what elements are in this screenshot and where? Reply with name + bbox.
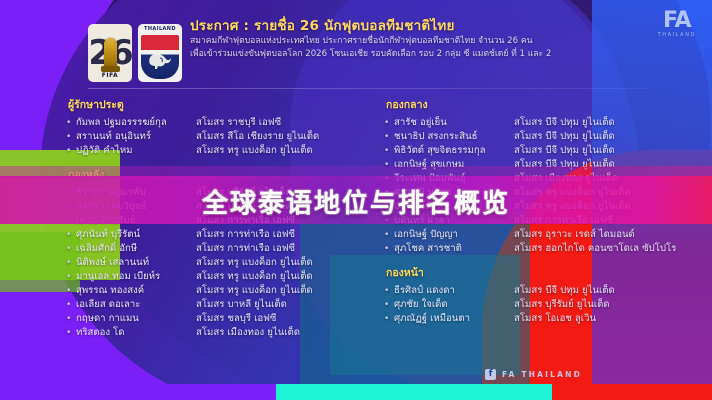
player-club: สโมสร เมืองทอง ยูไนเต็ด: [196, 326, 366, 340]
player-name: ศุภณัฏฐ์ เหมือนตา: [394, 312, 514, 326]
strip-segment-red: [552, 384, 712, 400]
player-name: เอกนิษฐ์ ปัญญา: [394, 228, 514, 242]
strip-segment-purple: [0, 384, 276, 400]
fa-logo-subtext: THAILAND: [658, 32, 696, 38]
page-title: ประกาศ : รายชื่อ 26 นักฟุตบอลทีมชาติไทย: [190, 18, 690, 35]
player-name: สรานนท์ อนุอินทร์: [76, 130, 196, 144]
elephant-icon: [147, 50, 173, 70]
player-club: สโมสร ชลบุรี เอฟซี: [196, 312, 366, 326]
bullet-icon: •: [66, 270, 76, 284]
player-row: •กฤษดา กาแมนสโมสร ชลบุรี เอฟซี: [66, 312, 366, 326]
bullet-icon: •: [384, 144, 394, 158]
bullet-icon: •: [384, 284, 394, 298]
player-row: •ทริสตอง โดสโมสร เมืองทอง ยูไนเต็ด: [66, 326, 366, 340]
player-club: สโมสร ทรู แบงค็อก ยูไนเต็ด: [196, 284, 366, 298]
player-row: •สุพรรณ ทองสงค์สโมสร ทรู แบงค็อก ยูไนเต็…: [66, 284, 366, 298]
fa-thailand-logo: FA THAILAND: [658, 10, 696, 38]
roster-columns: ผู้รักษาประตู•กัมพล ปฐมอรรรฆย์กุลสโมสร ร…: [0, 96, 712, 368]
player-name: เอเลียส ดอเลาะ: [76, 298, 196, 312]
player-row: •ศุภชัย ใจเด็ดสโมสร บุรีรัมย์ ยูไนเต็ด: [384, 298, 684, 312]
bullet-icon: •: [66, 116, 76, 130]
player-row: •ศุภนันท์ บุรีรัตน์สโมสร การท่าเรือ เอฟซ…: [66, 228, 366, 242]
player-name: ทริสตอง โด: [76, 326, 196, 340]
player-club: สโมสร โอเอช ลูเวิน: [514, 312, 684, 326]
bullet-icon: •: [384, 116, 394, 130]
player-row: •มานูเอล ทอม เบียห์รสโมสร ทรู แบงค็อก ยู…: [66, 270, 366, 284]
player-row: •ปฏิวัติ คำไหมสโมสร ทรู แบงค็อก ยูไนเต็ด: [66, 144, 366, 158]
section-gap: [66, 158, 366, 166]
player-row: •เฉลิมศักดิ์ อักษีสโมสร การท่าเรือ เอฟซี: [66, 242, 366, 256]
fa-logo-mark: FA: [658, 10, 696, 32]
fifa-world-cup-2026-badge: 26 FIFA: [88, 24, 132, 82]
player-row: •สุภโชค สารชาติสโมสร ฮอกไกโด คอนซาโดเล ซ…: [384, 242, 684, 256]
player-club: สโมสร บุรีรัมย์ ยูไนเต็ด: [514, 298, 684, 312]
player-row: •ชนาธิป สรงกระสินธ์สโมสร บีจี ปทุม ยูไนเ…: [384, 130, 684, 144]
footer: f FA THAILAND: [0, 358, 712, 384]
player-club: สโมสร อุราวะ เรดส์ ไดมอนด์: [514, 228, 684, 242]
section-gap: [384, 256, 684, 264]
bullet-icon: •: [384, 228, 394, 242]
bullet-icon: •: [384, 312, 394, 326]
player-club: สโมสร สีโอ เชียงราย ยูไนเต็ด: [196, 130, 366, 144]
bullet-icon: •: [66, 144, 76, 158]
bullet-icon: •: [66, 312, 76, 326]
player-name: สุภโชค สารชาติ: [394, 242, 514, 256]
player-name: ธีรศิลป์ แดงดา: [394, 284, 514, 298]
section-title: กองหน้า: [386, 264, 684, 281]
crest-country-label: THAILAND: [138, 24, 182, 35]
facebook-credit[interactable]: f FA THAILAND: [485, 369, 582, 380]
player-row: •สรานนท์ อนุอินทร์สโมสร สีโอ เชียงราย ยู…: [66, 130, 366, 144]
bullet-icon: •: [66, 256, 76, 270]
player-row: •ศุภณัฏฐ์ เหมือนตาสโมสร โอเอช ลูเวิน: [384, 312, 684, 326]
player-club: สโมสร บีจี ปทุม ยูไนเต็ด: [514, 116, 684, 130]
bullet-icon: •: [384, 130, 394, 144]
player-name: มานูเอล ทอม เบียห์ร: [76, 270, 196, 284]
player-name: ศุภชัย ใจเด็ด: [394, 298, 514, 312]
fifa-wordmark: FIFA: [88, 72, 132, 79]
trophy-icon: [104, 38, 117, 68]
player-club: สโมสร ทรู แบงค็อก ยูไนเต็ด: [196, 270, 366, 284]
player-row: •เอเลียส ดอเลาะสโมสร บาหลี ยูไนเต็ด: [66, 298, 366, 312]
player-row: •ธีรศิลป์ แดงดาสโมสร บีจี ปทุม ยูไนเต็ด: [384, 284, 684, 298]
crest-shield: [141, 35, 179, 79]
bullet-icon: •: [384, 242, 394, 256]
player-name: พิธิวัตต์ สุขจิตธรรมกุล: [394, 144, 514, 158]
header-divider: [88, 88, 648, 89]
player-name: กฤษดา กาแมน: [76, 312, 196, 326]
player-club: สโมสร ฮอกไกโด คอนซาโดเล ซัปโปโร: [514, 242, 684, 256]
emblem-row: 26 FIFA THAILAND: [88, 22, 184, 84]
bullet-icon: •: [66, 130, 76, 144]
player-club: สโมสร ทรู แบงค็อก ยูไนเต็ด: [196, 256, 366, 270]
player-name: ชนาธิป สรงกระสินธ์: [394, 130, 514, 144]
bullet-icon: •: [66, 326, 76, 340]
player-row: •สารัช อยู่เย็นสโมสร บีจี ปทุม ยูไนเต็ด: [384, 116, 684, 130]
player-row: •กัมพล ปฐมอรรรฆย์กุลสโมสร ราชบุรี เอฟซี: [66, 116, 366, 130]
bullet-icon: •: [66, 242, 76, 256]
player-name: เฉลิมศักดิ์ อักษี: [76, 242, 196, 256]
section-title: ผู้รักษาประตู: [68, 96, 366, 113]
player-club: สโมสร ทรู แบงค็อก ยูไนเต็ด: [196, 144, 366, 158]
player-list: •กัมพล ปฐมอรรรฆย์กุลสโมสร ราชบุรี เอฟซี•…: [66, 116, 366, 158]
thailand-fa-crest: THAILAND: [138, 24, 182, 82]
bullet-icon: •: [384, 298, 394, 312]
player-name: สารัช อยู่เย็น: [394, 116, 514, 130]
player-name: ศุภนันท์ บุรีรัตน์: [76, 228, 196, 242]
bullet-icon: •: [66, 284, 76, 298]
header-text-block: ประกาศ : รายชื่อ 26 นักฟุตบอลทีมชาติไทย …: [190, 18, 690, 60]
overlay-headline: 全球泰语地位与排名概览: [202, 183, 510, 220]
bullet-icon: •: [66, 228, 76, 242]
player-row: •เอกนิษฐ์ ปัญญาสโมสร อุราวะ เรดส์ ไดมอนด…: [384, 228, 684, 242]
section-title: กองกลาง: [386, 96, 684, 113]
player-row: •นิติพงษ์ เสลานนท์สโมสร ทรู แบงค็อก ยูไน…: [66, 256, 366, 270]
player-name: สุพรรณ ทองสงค์: [76, 284, 196, 298]
overlay-headline-container: 全球泰语地位与排名概览: [0, 183, 712, 219]
player-club: สโมสร การท่าเรือ เอฟซี: [196, 228, 366, 242]
facebook-label: FA THAILAND: [502, 370, 582, 379]
player-list: •ธีรศิลป์ แดงดาสโมสร บีจี ปทุม ยูไนเต็ด•…: [384, 284, 684, 326]
player-club: สโมสร ราชบุรี เอฟซี: [196, 116, 366, 130]
player-name: นิติพงษ์ เสลานนท์: [76, 256, 196, 270]
player-row: •พิธิวัตต์ สุขจิตธรรมกุลสโมสร บีจี ปทุม …: [384, 144, 684, 158]
bottom-color-strip: [0, 384, 712, 400]
player-club: สโมสร บีจี ปทุม ยูไนเต็ด: [514, 144, 684, 158]
player-club: สโมสร การท่าเรือ เอฟซี: [196, 242, 366, 256]
subtitle-line-2: เพื่อเข้าร่วมแข่งขันฟุตบอลโลก 2026 โซนเอ…: [190, 48, 690, 61]
player-name: กัมพล ปฐมอรรรฆย์กุล: [76, 116, 196, 130]
facebook-icon: f: [485, 369, 496, 380]
subtitle-line-1: สมาคมกีฬาฟุตบอลแห่งประเทศไทย ประกาศรายชื…: [190, 35, 690, 48]
player-club: สโมสร บีจี ปทุม ยูไนเต็ด: [514, 130, 684, 144]
bullet-icon: •: [66, 298, 76, 312]
poster-canvas: 26 FIFA THAILAND ประกาศ : รายชื่อ 26 นัก…: [0, 0, 712, 400]
player-club: สโมสร บีจี ปทุม ยูไนเต็ด: [514, 284, 684, 298]
player-club: สโมสร บาหลี ยูไนเต็ด: [196, 298, 366, 312]
player-name: ปฏิวัติ คำไหม: [76, 144, 196, 158]
strip-segment-cyan: [276, 384, 552, 400]
